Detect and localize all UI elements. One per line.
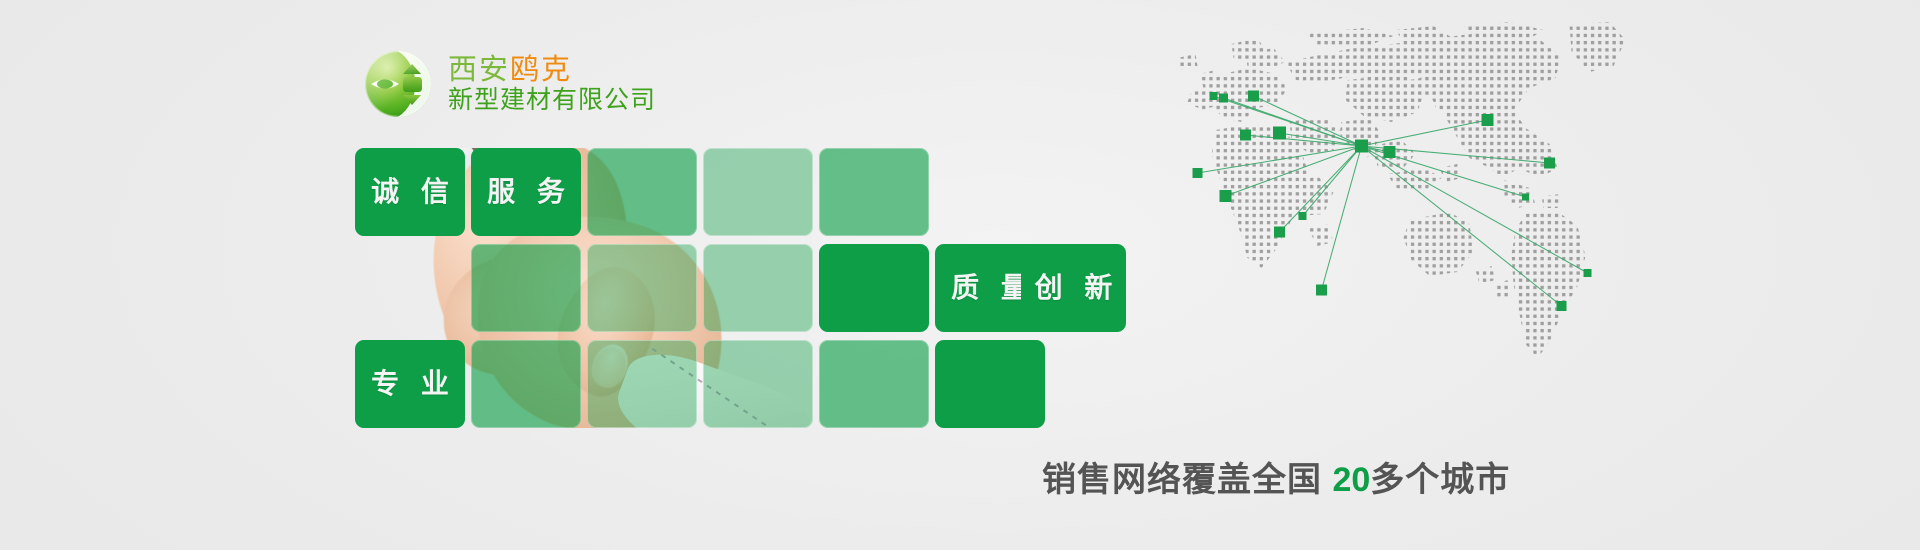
network-coverage-tagline: 销售网络覆盖全国 20多个城市 xyxy=(1042,452,1510,501)
promo-banner: 西安鸥克 新型建材有限公司 诚 信 服 务 xyxy=(0,0,1920,550)
node-s-america xyxy=(1557,301,1567,311)
logo-name-city: 西安 xyxy=(448,54,510,86)
node-mid-africa xyxy=(1220,190,1232,202)
node-scandinavia xyxy=(1210,92,1218,100)
tile-blank-r3c3[interactable] xyxy=(587,340,697,428)
logo-name-brand: 鸥克 xyxy=(510,54,572,86)
tile-blank-r2c2[interactable] xyxy=(471,244,581,332)
tile-label: 专 业 xyxy=(364,370,456,398)
tile-integrity[interactable]: 诚 信 xyxy=(355,148,465,236)
node-caribbean xyxy=(1522,194,1529,201)
tile-blank-r3c4[interactable] xyxy=(703,340,813,428)
map-dot-landmass xyxy=(1158,18,1663,418)
node-n-europe xyxy=(1248,91,1259,102)
node-iberia xyxy=(1240,130,1251,141)
world-network-map xyxy=(905,18,1915,418)
globe-leaf-logo-icon xyxy=(362,48,434,120)
tile-label: 服 务 xyxy=(480,178,572,206)
tile-blank-r2c4[interactable] xyxy=(703,244,813,332)
node-australia xyxy=(1584,269,1592,277)
logo-company-subtitle: 新型建材有限公司 xyxy=(448,87,656,115)
node-e-america xyxy=(1544,158,1555,169)
tile-service[interactable]: 服 务 xyxy=(471,148,581,236)
company-logo[interactable]: 西安鸥克 新型建材有限公司 xyxy=(362,48,656,120)
tagline-prefix: 销售网络覆盖全国 xyxy=(1042,461,1332,499)
node-c-europe xyxy=(1273,127,1286,140)
tiles-layer: 诚 信 服 务 专 业 xyxy=(355,148,915,428)
tagline-city-count: 20 xyxy=(1332,461,1370,499)
tile-label: 诚 信 xyxy=(364,178,456,206)
logo-wordmark: 西安鸥克 新型建材有限公司 xyxy=(448,53,656,115)
tagline-suffix: 多个城市 xyxy=(1370,461,1510,499)
hub-china xyxy=(1355,140,1368,153)
node-w-europe xyxy=(1219,94,1228,103)
node-n-america xyxy=(1482,114,1494,126)
node-sw-africa xyxy=(1299,212,1307,220)
tile-blank-r3c2[interactable] xyxy=(471,340,581,428)
node-w-africa xyxy=(1193,168,1203,178)
tile-blank-r1c4[interactable] xyxy=(703,148,813,236)
node-se-asia xyxy=(1384,146,1396,158)
tile-blank-r1c3[interactable] xyxy=(587,148,697,236)
node-s-africa xyxy=(1274,227,1285,238)
tile-professional[interactable]: 专 业 xyxy=(355,340,465,428)
tile-blank-r2c3[interactable] xyxy=(587,244,697,332)
value-tile-mosaic: 诚 信 服 务 专 业 xyxy=(355,148,915,428)
node-e-africa xyxy=(1316,285,1327,296)
logo-company-name: 西安鸥克 xyxy=(448,55,656,85)
